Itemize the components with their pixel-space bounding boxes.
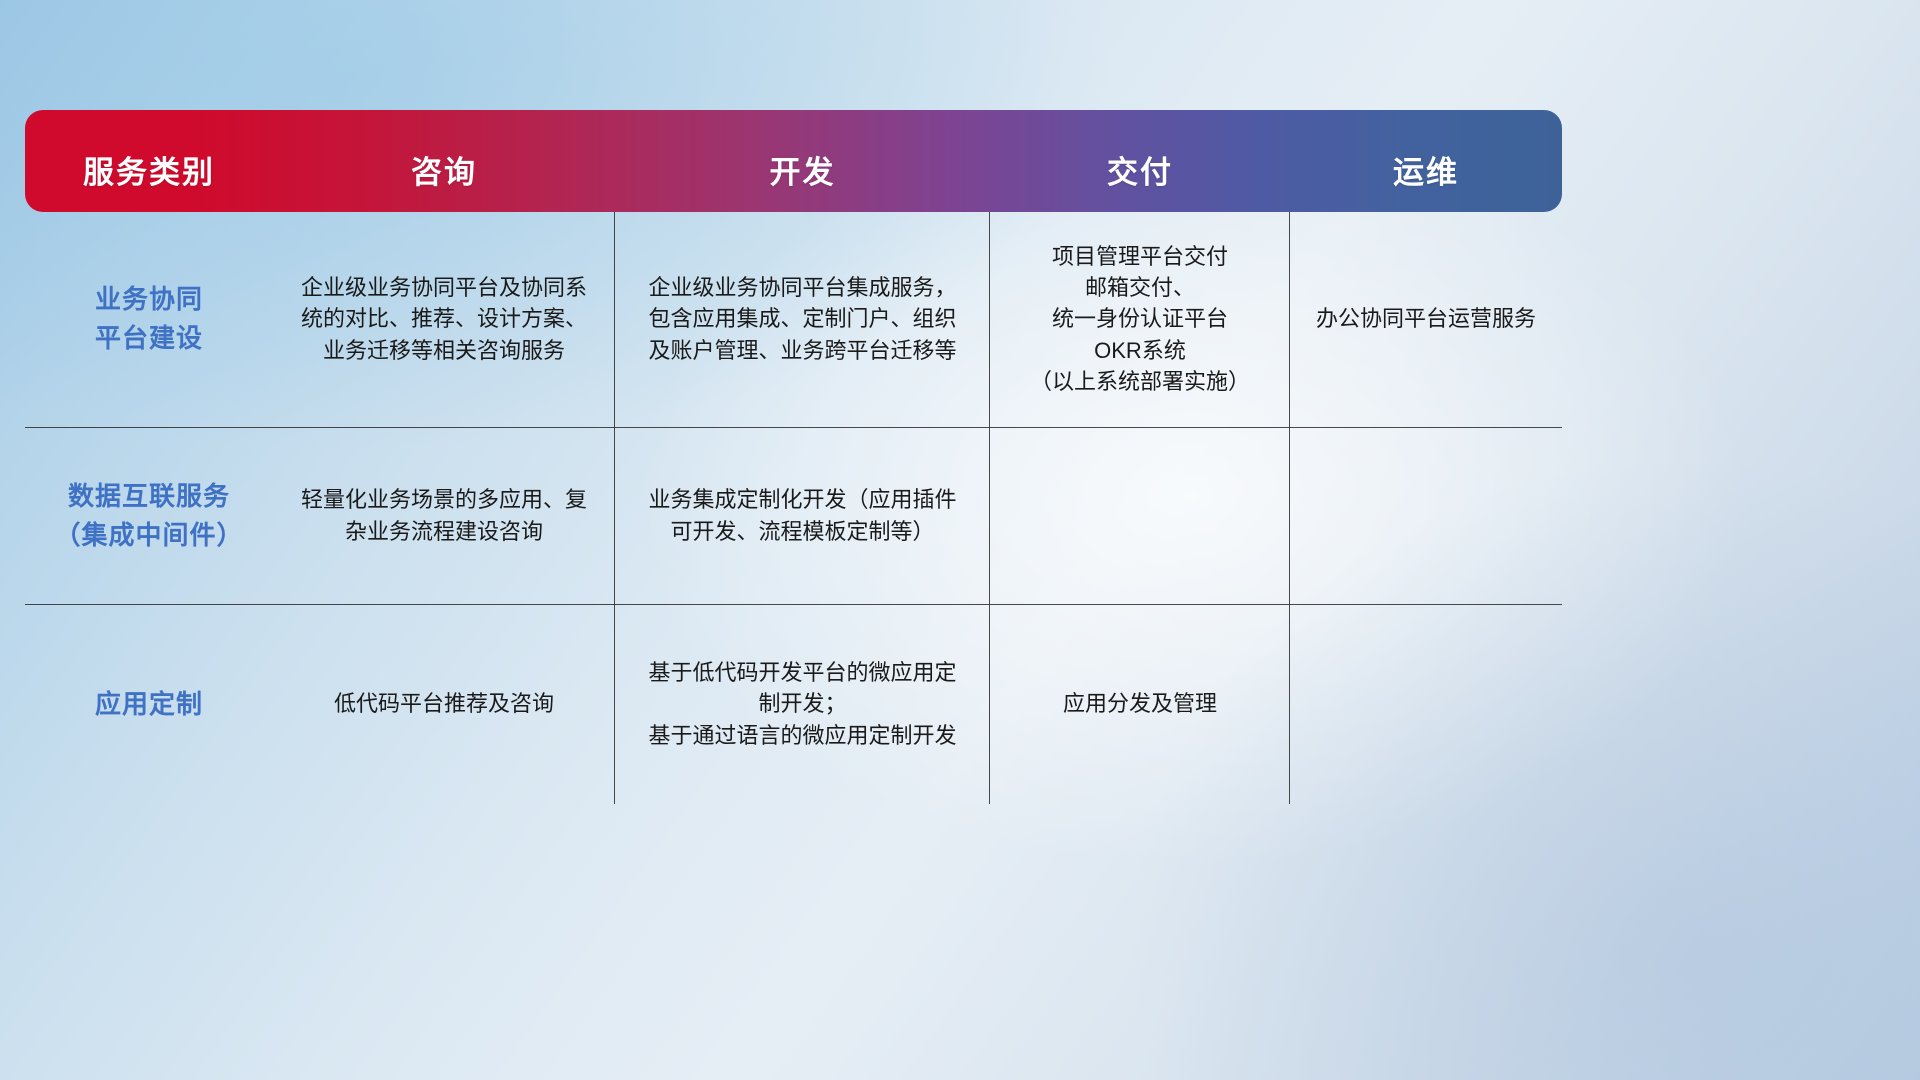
- row-category-label: 业务协同 平台建设: [25, 211, 273, 427]
- column-header-delivery: 交付: [990, 110, 1290, 212]
- row-category-label: 数据互联服务 （集成中间件）: [25, 427, 273, 604]
- column-header-operations: 运维: [1290, 110, 1562, 212]
- cell-delivery: 项目管理平台交付 邮箱交付、 统一身份认证平台 OKR系统 （以上系统部署实施）: [990, 211, 1290, 427]
- table-body: 业务协同 平台建设 企业级业务协同平台及协同系 统的对比、推荐、设计方案、 业务…: [25, 211, 1562, 804]
- cell-consulting: 企业级业务协同平台及协同系 统的对比、推荐、设计方案、 业务迁移等相关咨询服务: [273, 211, 615, 427]
- cell-consulting: 轻量化业务场景的多应用、复 杂业务流程建设咨询: [273, 427, 615, 604]
- table-row: 应用定制 低代码平台推荐及咨询 基于低代码开发平台的微应用定 制开发； 基于通过…: [25, 604, 1562, 804]
- column-header-consulting: 咨询: [273, 110, 615, 212]
- table-header-row: 服务类别 咨询 开发 交付 运维: [25, 110, 1562, 212]
- service-matrix-table: 服务类别 咨询 开发 交付 运维 业务协同 平台建设 企业级业务协同平台及协同系…: [25, 110, 1562, 775]
- cell-consulting: 低代码平台推荐及咨询: [273, 604, 615, 804]
- table-row: 业务协同 平台建设 企业级业务协同平台及协同系 统的对比、推荐、设计方案、 业务…: [25, 211, 1562, 427]
- row-category-label: 应用定制: [25, 604, 273, 804]
- column-header-category: 服务类别: [25, 110, 273, 212]
- cell-development: 业务集成定制化开发（应用插件 可开发、流程模板定制等）: [615, 427, 990, 604]
- cell-operations: [1290, 604, 1562, 804]
- table-row: 数据互联服务 （集成中间件） 轻量化业务场景的多应用、复 杂业务流程建设咨询 业…: [25, 427, 1562, 604]
- cell-delivery: 应用分发及管理: [990, 604, 1290, 804]
- cell-delivery: [990, 427, 1290, 604]
- cell-operations: [1290, 427, 1562, 604]
- cell-development: 基于低代码开发平台的微应用定 制开发； 基于通过语言的微应用定制开发: [615, 604, 990, 804]
- cell-development: 企业级业务协同平台集成服务， 包含应用集成、定制门户、组织 及账户管理、业务跨平…: [615, 211, 990, 427]
- cell-operations: 办公协同平台运营服务: [1290, 211, 1562, 427]
- column-header-development: 开发: [615, 110, 990, 212]
